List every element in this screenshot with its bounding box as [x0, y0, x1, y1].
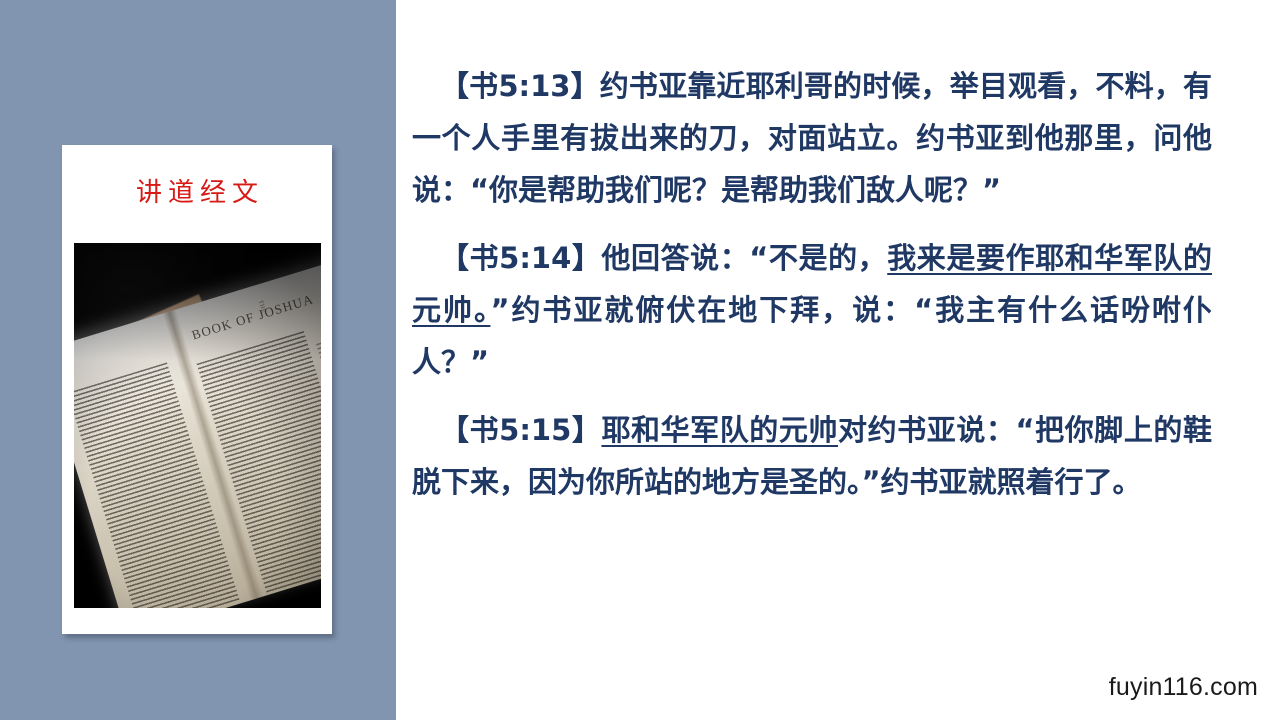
- open-bible-photo: BOOK OF JOSHUA THE: [74, 243, 321, 608]
- verse-text: 【书5:13】约书亚靠近耶利哥的时候，举目观看，不料，有一个人手里有拔出来的刀，…: [412, 69, 1212, 207]
- verse-underlined-text: 耶和华军队的元帅: [601, 413, 838, 447]
- verse-text: 【书5:14】他回答说：“不是的，: [440, 241, 887, 275]
- card-title: 讲道经文: [62, 145, 332, 241]
- verse-paragraph: 【书5:13】约书亚靠近耶利哥的时候，举目观看，不料，有一个人手里有拔出来的刀，…: [412, 60, 1212, 216]
- site-watermark: fuyin116.com: [1109, 673, 1258, 702]
- verse-text: 【书5:15】: [440, 413, 601, 447]
- verse-paragraph: 【书5:15】耶和华军队的元帅对约书亚说：“把你脚上的鞋脱下来，因为你所站的地方…: [412, 404, 1212, 508]
- scripture-body: 【书5:13】约书亚靠近耶利哥的时候，举目观看，不料，有一个人手里有拔出来的刀，…: [412, 60, 1212, 508]
- verse-paragraph: 【书5:14】他回答说：“不是的，我来是要作耶和华军队的元帅。”约书亚就俯伏在地…: [412, 232, 1212, 388]
- verse-text: ”约书亚就俯伏在地下拜，说：“我主有什么话吩咐仆人？”: [412, 293, 1212, 379]
- slide-root: 讲道经文 BOOK OF JOSHUA THE 【书5:13】约书亚靠近耶利哥的…: [0, 0, 1280, 720]
- scripture-picture-card: 讲道经文 BOOK OF JOSHUA THE: [62, 145, 332, 634]
